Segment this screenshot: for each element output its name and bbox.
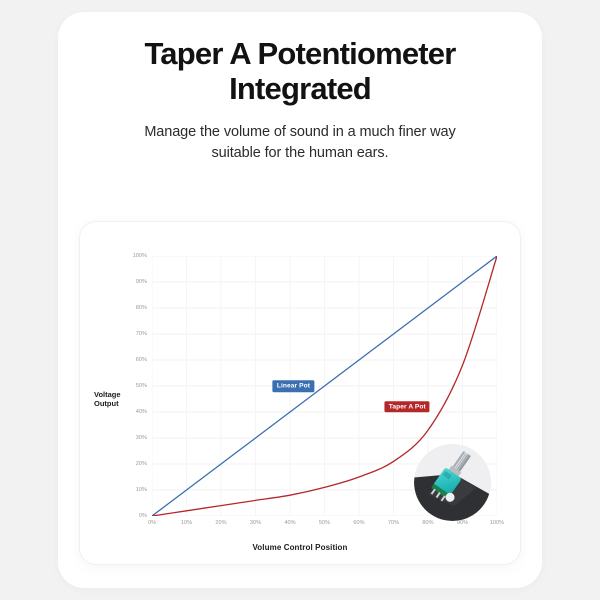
x-tick-label: 30% bbox=[250, 520, 261, 526]
series-label-linear-pot: Linear Pot bbox=[273, 380, 314, 392]
y-tick-label: 90% bbox=[136, 279, 147, 285]
y-tick-label: 50% bbox=[136, 383, 147, 389]
y-tick-label: 10% bbox=[136, 487, 147, 493]
chart-panel: Voltage Output 0%10%20%30%40%50%60%70%80… bbox=[80, 222, 520, 564]
y-tick-label: 100% bbox=[133, 253, 147, 259]
y-tick-label: 60% bbox=[136, 357, 147, 363]
y-tick-label: 20% bbox=[136, 461, 147, 467]
plot-area: 0%10%20%30%40%50%60%70%80%90%100% 0%10%2… bbox=[152, 256, 497, 516]
y-tick-label: 30% bbox=[136, 435, 147, 441]
x-tick-label: 20% bbox=[215, 520, 226, 526]
y-axis-title: Voltage Output bbox=[94, 390, 140, 409]
x-tick-label: 70% bbox=[388, 520, 399, 526]
page-title: Taper A Potentiometer Integrated bbox=[80, 36, 520, 106]
x-tick-label: 10% bbox=[181, 520, 192, 526]
y-tick-label: 40% bbox=[136, 409, 147, 415]
x-tick-label: 0% bbox=[148, 520, 156, 526]
series-label-taper-a-pot: Taper A Pot bbox=[385, 401, 430, 413]
x-tick-label: 50% bbox=[319, 520, 330, 526]
x-tick-label: 80% bbox=[422, 520, 433, 526]
y-tick-label: 0% bbox=[139, 513, 147, 519]
x-tick-label: 90% bbox=[457, 520, 468, 526]
header: Taper A Potentiometer Integrated Manage … bbox=[58, 12, 542, 163]
potentiometer-product-photo bbox=[414, 444, 491, 521]
x-tick-label: 40% bbox=[284, 520, 295, 526]
y-tick-label: 80% bbox=[136, 305, 147, 311]
y-tick-label: 70% bbox=[136, 331, 147, 337]
x-tick-label: 100% bbox=[490, 520, 504, 526]
screenshot-root: Taper A Potentiometer Integrated Manage … bbox=[0, 0, 600, 600]
page-subtitle: Manage the volume of sound in a much fin… bbox=[120, 122, 480, 163]
content-card: Taper A Potentiometer Integrated Manage … bbox=[58, 12, 542, 588]
x-tick-label: 60% bbox=[353, 520, 364, 526]
potentiometer-illustration bbox=[414, 444, 491, 521]
x-axis-title: Volume Control Position bbox=[80, 543, 520, 552]
